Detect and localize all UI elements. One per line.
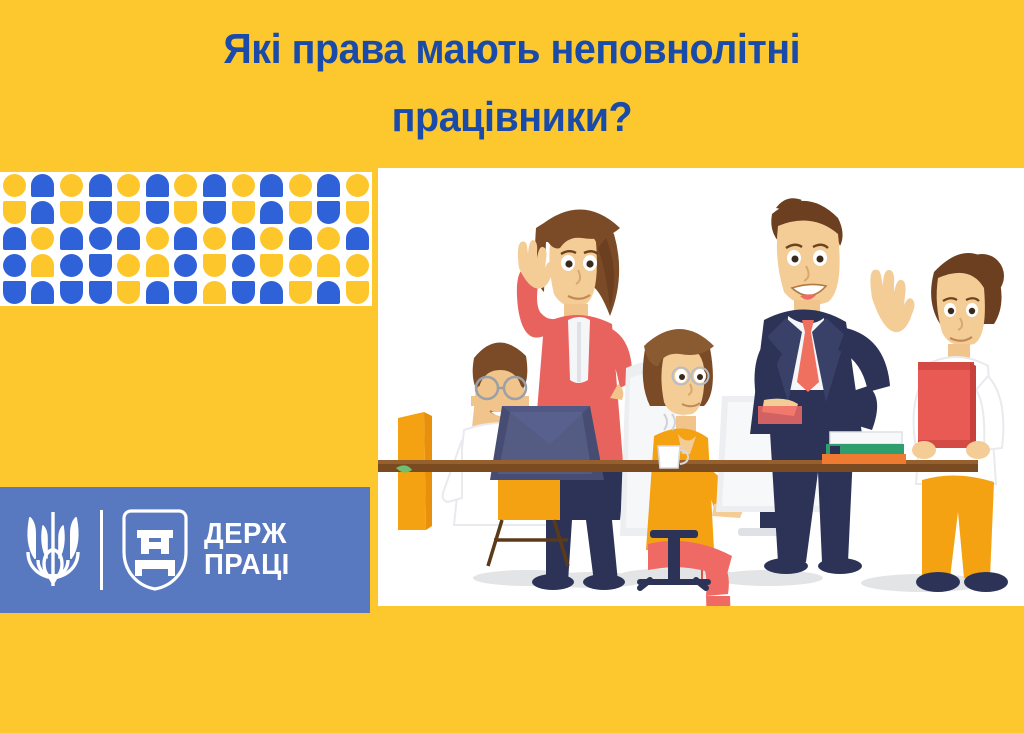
pattern-cell [257,252,286,279]
pattern-cell [315,252,344,279]
pattern-cell [286,199,315,226]
pattern-shape-archdown-blue [89,281,112,304]
pattern-shape-arch-blue [317,174,340,197]
pattern-cell [114,279,143,306]
logo-divider [100,510,103,590]
pattern-cell [229,226,258,253]
book-stack [822,432,906,464]
pattern-cell [343,252,372,279]
logo-text-line-2: ПРАЦІ [204,550,290,581]
pattern-cell [29,252,58,279]
pattern-cell [57,172,86,199]
pattern-cell [86,279,115,306]
pattern-shape-arch-yellow [317,254,340,277]
pattern-shape-arch-blue [31,174,54,197]
pattern-cell [229,252,258,279]
pattern-cell [286,226,315,253]
pattern-shape-arch-blue [31,281,54,304]
office-team-illustration [378,168,1024,606]
pattern-cell [143,199,172,226]
pattern-cell [0,279,29,306]
title-line-1: Які права мають неповнолітні [224,15,801,83]
pattern-cell [315,279,344,306]
pattern-shape-arch-blue [260,201,283,224]
pattern-shape-circle-yellow [289,254,312,277]
pattern-cell [114,226,143,253]
logo-text-line-1: ДЕРЖ [204,519,290,550]
pattern-shape-arch-blue [232,227,255,250]
pattern-cell [315,199,344,226]
pattern-shape-arch-blue [146,174,169,197]
pattern-cell [315,226,344,253]
pattern-cell [86,172,115,199]
pattern-shape-circle-yellow [346,254,369,277]
pattern-shape-archdown-yellow [289,201,312,224]
pattern-cell [114,199,143,226]
pattern-cell [57,279,86,306]
pattern-cell [343,226,372,253]
pattern-shape-archdown-yellow [174,201,197,224]
pattern-shape-archdown-yellow [346,281,369,304]
pattern-cell [172,226,201,253]
pattern-cell [29,279,58,306]
pattern-shape-circle-yellow [31,227,54,250]
pattern-cell [0,172,29,199]
pattern-shape-archdown-yellow [117,201,140,224]
pattern-cell [257,199,286,226]
pattern-shape-archdown-yellow [232,201,255,224]
pattern-shape-archdown-blue [174,281,197,304]
pattern-cell [86,199,115,226]
pattern-shape-arch-blue [346,227,369,250]
pattern-cell [200,279,229,306]
decorative-pattern-block [0,172,372,306]
title-line-2: працівники? [392,83,633,151]
pattern-cell [200,252,229,279]
pattern-shape-circle-blue [174,254,197,277]
pattern-cell [286,252,315,279]
pattern-shape-arch-yellow [203,281,226,304]
pattern-shape-archdown-blue [3,281,26,304]
pattern-shape-circle-yellow [3,174,26,197]
pattern-shape-circle-blue [3,254,26,277]
pattern-shape-arch-blue [117,227,140,250]
pattern-shape-archdown-yellow [260,254,283,277]
pattern-cell [0,252,29,279]
pattern-shape-arch-blue [146,281,169,304]
pattern-shape-archdown-yellow [346,201,369,224]
pattern-cell [257,172,286,199]
pattern-cell [114,252,143,279]
pattern-shape-circle-yellow [260,227,283,250]
pattern-cell [57,199,86,226]
pattern-shape-archdown-yellow [289,281,312,304]
pattern-cell [29,199,58,226]
pattern-shape-circle-blue [89,227,112,250]
pattern-shape-arch-blue [3,227,26,250]
pattern-cell [172,199,201,226]
pattern-shape-archdown-blue [317,201,340,224]
pattern-shape-archdown-blue [232,281,255,304]
pattern-shape-archdown-blue [60,281,83,304]
pattern-cell [257,279,286,306]
pattern-cell [143,226,172,253]
pattern-shape-archdown-blue [89,201,112,224]
pattern-cell [143,172,172,199]
pattern-shape-circle-yellow [317,227,340,250]
pattern-shape-archdown-blue [146,201,169,224]
pattern-cell [343,279,372,306]
pattern-shape-arch-blue [174,227,197,250]
pattern-cell [172,279,201,306]
pattern-cell [286,279,315,306]
pattern-cell [172,252,201,279]
poster-root: Які права мають неповнолітні працівники? [0,0,1024,733]
pattern-shape-circle-yellow [174,174,197,197]
logo-group: ДЕРЖ ПРАЦІ [22,506,294,594]
pattern-cell [343,199,372,226]
pattern-shape-circle-yellow [117,254,140,277]
pattern-cell [172,172,201,199]
pattern-cell [57,226,86,253]
pattern-cell [86,226,115,253]
pattern-cell [57,252,86,279]
logo-text: ДЕРЖ ПРАЦІ [204,519,290,581]
pattern-cell [29,226,58,253]
logo-band: ДЕРЖ ПРАЦІ [0,487,370,613]
pattern-cell [143,252,172,279]
pattern-cell [286,172,315,199]
pattern-shape-circle-yellow [346,174,369,197]
pattern-cell [114,172,143,199]
pattern-shape-arch-blue [203,174,226,197]
pattern-cell [86,252,115,279]
pattern-shape-arch-yellow [31,254,54,277]
pattern-shape-archdown-blue [203,201,226,224]
pattern-shape-arch-blue [89,174,112,197]
pattern-shape-archdown-yellow [3,201,26,224]
pattern-shape-circle-yellow [60,174,83,197]
pattern-cell [200,199,229,226]
ukraine-trident-icon [22,508,84,592]
pattern-shape-archdown-yellow [60,201,83,224]
page-title: Які права мають неповнолітні працівники? [0,0,1024,165]
pattern-shape-arch-blue [260,174,283,197]
pattern-shape-circle-yellow [203,227,226,250]
pattern-shape-archdown-blue [89,254,112,277]
pattern-shape-archdown-yellow [203,254,226,277]
pattern-shape-arch-yellow [146,254,169,277]
pattern-cell [229,199,258,226]
pattern-shape-arch-blue [31,201,54,224]
pattern-cell [200,226,229,253]
pattern-shape-arch-blue [289,227,312,250]
pattern-cell [229,172,258,199]
shield-emblem-icon [119,506,191,594]
pattern-shape-circle-yellow [232,174,255,197]
pattern-cell [200,172,229,199]
pattern-cell [343,172,372,199]
pattern-shape-circle-blue [60,254,83,277]
pattern-grid [0,172,372,306]
pattern-shape-arch-blue [260,281,283,304]
illustration-panel [378,168,1024,606]
pattern-cell [0,199,29,226]
pattern-shape-circle-blue [232,254,255,277]
pattern-shape-arch-blue [60,227,83,250]
pattern-shape-circle-yellow [289,174,312,197]
pattern-cell [143,279,172,306]
pattern-cell [257,226,286,253]
pattern-shape-arch-blue [317,281,340,304]
pattern-cell [0,226,29,253]
pattern-shape-archdown-yellow [117,281,140,304]
red-book [918,362,976,452]
pattern-shape-circle-yellow [117,174,140,197]
pattern-cell [29,172,58,199]
pattern-shape-circle-yellow [146,227,169,250]
pattern-cell [229,279,258,306]
pattern-cell [315,172,344,199]
